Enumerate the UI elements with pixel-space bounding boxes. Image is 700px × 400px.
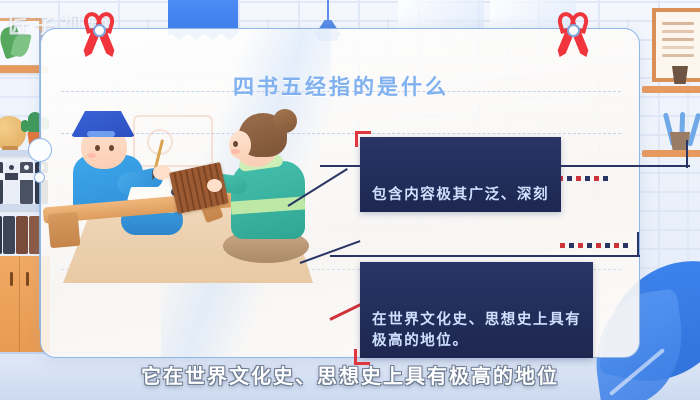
callout-2-bracket	[330, 255, 640, 257]
boy-eye-right	[109, 145, 114, 151]
dot-decoration-2	[560, 243, 628, 248]
book-2	[3, 216, 15, 254]
callout-box-2: 在世界文化史、思想史上具有 极高的地位。	[360, 262, 593, 358]
red-ribbon-left-icon	[82, 12, 118, 58]
girl-eye	[233, 141, 238, 147]
girl-hair-bun	[273, 109, 297, 133]
callout-2-text: 在世界文化史、思想史上具有 极高的地位。	[372, 312, 581, 349]
pendant-lamp-cord	[327, 0, 329, 22]
cabinet-handle-left	[10, 272, 13, 286]
binder-1	[0, 162, 3, 204]
callout-2-bracket-end	[637, 232, 639, 256]
ribbon-pin-right	[567, 24, 580, 37]
girl-hand	[207, 179, 222, 192]
boy-eye-left	[95, 145, 100, 151]
red-ribbon-right-icon	[556, 12, 592, 58]
screenshot-stage: 匠子视频 四书五经指的是什么	[0, 0, 700, 400]
subtitle-caption: 它在世界文化史、思想史上具有极高的地位	[0, 360, 700, 389]
girl-cheek	[231, 149, 240, 154]
boy-cheek	[87, 153, 96, 158]
boy-hand	[153, 165, 171, 180]
desk-leg-left	[48, 212, 81, 248]
callout-1-bracket-end	[686, 140, 688, 168]
binder-2	[5, 162, 18, 204]
cabinet-divider	[19, 256, 20, 354]
book-1	[0, 216, 2, 254]
illustration-scene	[25, 95, 345, 295]
boy-hat-band	[87, 131, 115, 137]
callout-1-text: 包含内容极其广泛、深刻	[372, 187, 549, 203]
ribbon-pin-left	[93, 24, 106, 37]
wall-shelf-right-2	[642, 150, 700, 157]
picture-lines	[662, 22, 694, 25]
callout-1-corner	[355, 131, 371, 147]
wall-shelf-right-1	[642, 86, 700, 93]
callout-box-1: 包含内容极其广泛、深刻	[360, 137, 561, 212]
